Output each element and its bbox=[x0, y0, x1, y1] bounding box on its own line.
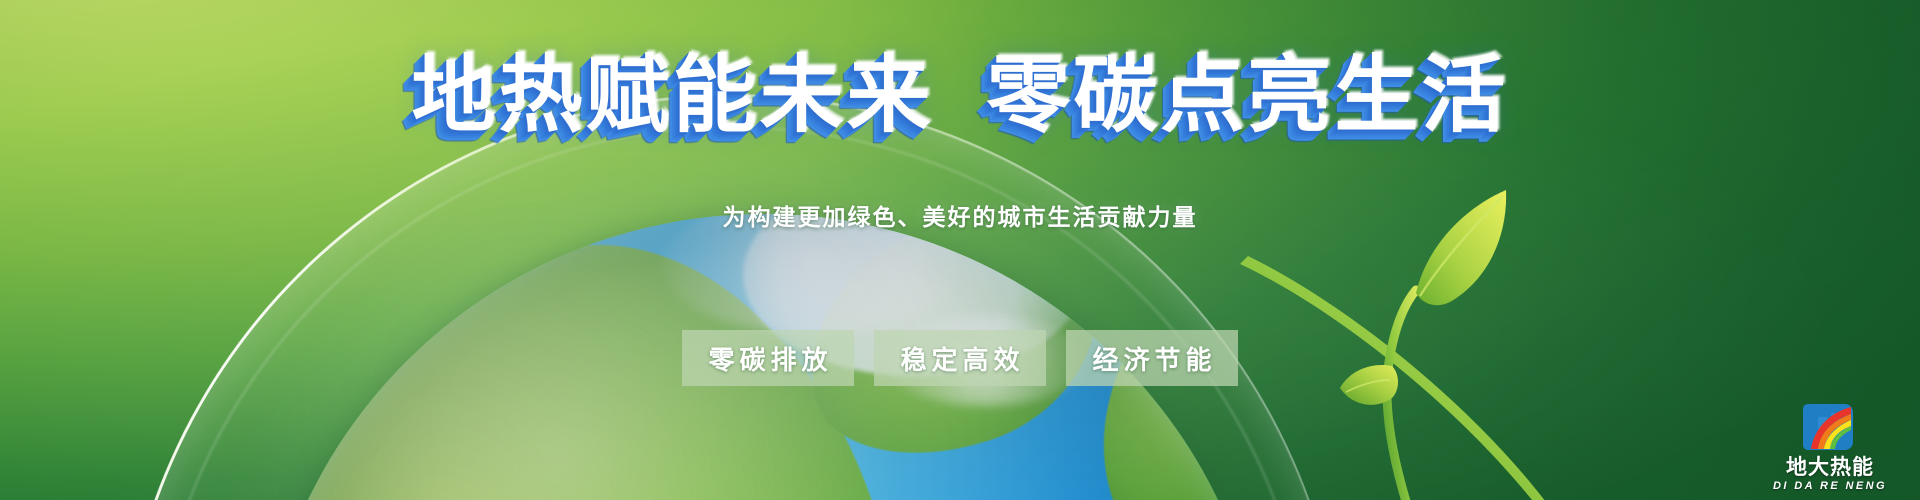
logo-name-cn: 地大热能 bbox=[1786, 457, 1874, 478]
feature-badge-stable-efficient[interactable]: 稳定高效 bbox=[874, 330, 1046, 386]
rainbow-swoosh-logo-icon bbox=[1801, 402, 1859, 454]
logo-name-en: DI DA RE NENG bbox=[1773, 481, 1887, 492]
banner-content: 地热赋能未来 零碳点亮生活 为构建更加绿色、美好的城市生活贡献力量 零碳排放 稳… bbox=[0, 0, 1920, 500]
promo-banner: 地热赋能未来 零碳点亮生活 为构建更加绿色、美好的城市生活贡献力量 零碳排放 稳… bbox=[0, 0, 1920, 500]
feature-badge-list: 零碳排放 稳定高效 经济节能 bbox=[0, 330, 1920, 386]
feature-badge-economical[interactable]: 经济节能 bbox=[1066, 330, 1238, 386]
company-logo[interactable]: 地大热能 DI DA RE NENG bbox=[1764, 402, 1896, 492]
banner-subtitle: 为构建更加绿色、美好的城市生活贡献力量 bbox=[0, 198, 1920, 232]
page-title: 地热赋能未来 零碳点亮生活 bbox=[0, 48, 1920, 142]
feature-badge-zero-carbon[interactable]: 零碳排放 bbox=[682, 330, 854, 386]
